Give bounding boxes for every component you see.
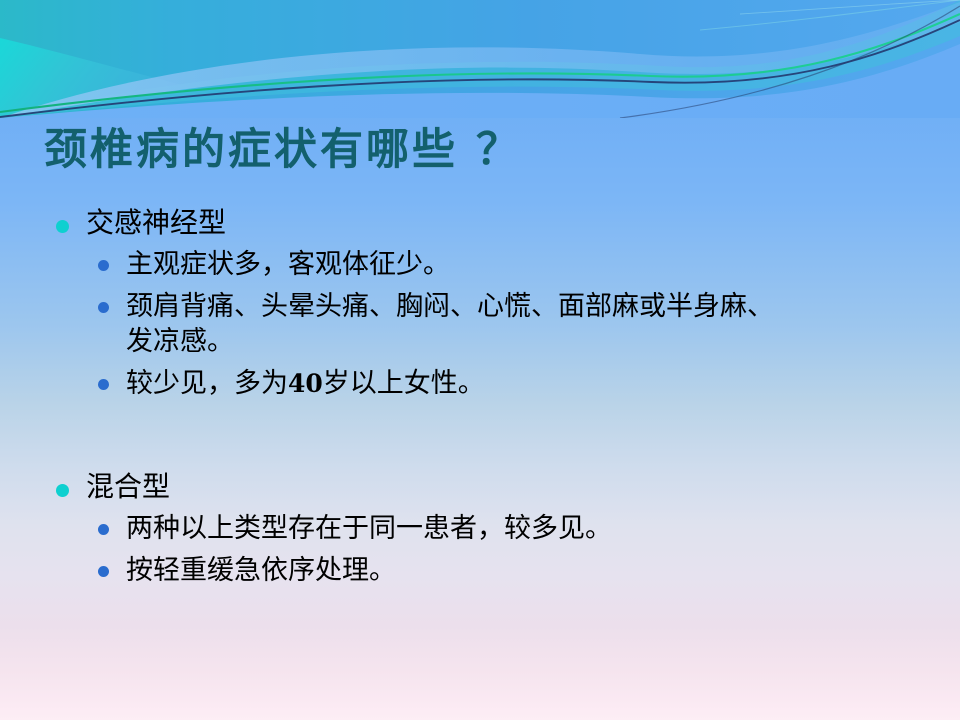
list-item-level2-label-wrap: 发凉感。 bbox=[126, 324, 924, 359]
bullet-list-level1: 交感神经型 主观症状多，客观体征少。 颈肩背痛、头晕头痛、胸闷、心慌、面部麻或半… bbox=[44, 206, 924, 588]
list-item-level2-label: 主观症状多，客观体征少。 bbox=[126, 247, 924, 282]
list-item-level1[interactable]: 混合型 两种以上类型存在于同一患者，较多见。 按轻重缓急依序处理。 bbox=[44, 470, 924, 588]
list-item-level2[interactable]: 两种以上类型存在于同一患者，较多见。 bbox=[86, 511, 924, 546]
slide-body: 交感神经型 主观症状多，客观体征少。 颈肩背痛、头晕头痛、胸闷、心慌、面部麻或半… bbox=[44, 206, 924, 595]
list-item-level1[interactable]: 交感神经型 主观症状多，客观体征少。 颈肩背痛、头晕头痛、胸闷、心慌、面部麻或半… bbox=[44, 206, 924, 401]
age-number-value: 40 bbox=[288, 369, 323, 398]
list-item-level1-label: 混合型 bbox=[86, 470, 924, 507]
label-text-before-number: 较少见，多为 bbox=[126, 368, 288, 398]
list-item-level2[interactable]: 颈肩背痛、头晕头痛、胸闷、心慌、面部麻或半身麻、 发凉感。 bbox=[86, 289, 924, 359]
list-item-level2-label: 两种以上类型存在于同一患者，较多见。 bbox=[126, 511, 924, 546]
list-item-level2-label: 按轻重缓急依序处理。 bbox=[126, 553, 924, 588]
list-item-level2[interactable]: 较少见，多为40岁以上女性。 bbox=[86, 366, 924, 401]
bullet-dot-icon bbox=[98, 302, 109, 313]
label-text-after-number: 岁以上女性。 bbox=[323, 368, 485, 398]
bullet-list-level2: 两种以上类型存在于同一患者，较多见。 按轻重缓急依序处理。 bbox=[86, 511, 924, 588]
list-item-level1-label: 交感神经型 bbox=[86, 206, 924, 243]
slide-canvas: 颈椎病的症状有哪些 ？ 交感神经型 主观症状多，客观体征少。 颈肩背痛、头晕头痛… bbox=[0, 0, 960, 720]
bullet-dot-icon bbox=[98, 566, 109, 577]
bullet-dot-icon bbox=[98, 260, 109, 271]
bullet-dot-icon bbox=[98, 524, 109, 535]
list-item-level2[interactable]: 按轻重缓急依序处理。 bbox=[86, 553, 924, 588]
header-wave-ribbon bbox=[0, 0, 960, 118]
list-item-level2-label: 较少见，多为40岁以上女性。 bbox=[126, 366, 924, 401]
bullet-dot-icon bbox=[98, 379, 109, 390]
page-title: 颈椎病的症状有哪些 ？ bbox=[44, 126, 924, 176]
list-item-level2-label: 颈肩背痛、头晕头痛、胸闷、心慌、面部麻或半身麻、 bbox=[126, 289, 924, 324]
bullet-list-level2: 主观症状多，客观体征少。 颈肩背痛、头晕头痛、胸闷、心慌、面部麻或半身麻、 发凉… bbox=[86, 247, 924, 401]
section-spacer bbox=[44, 408, 924, 470]
list-item-level2[interactable]: 主观症状多，客观体征少。 bbox=[86, 247, 924, 282]
bullet-dot-icon bbox=[56, 220, 69, 233]
bullet-dot-icon bbox=[56, 484, 69, 497]
